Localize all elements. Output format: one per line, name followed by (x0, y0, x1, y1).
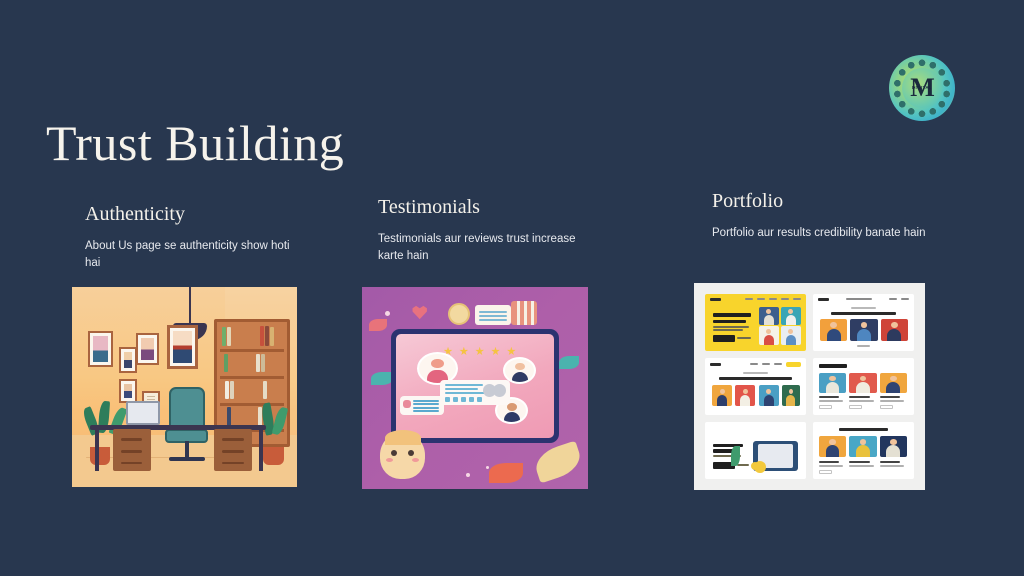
portfolio-card[interactable] (705, 294, 806, 351)
tablet-screen (396, 334, 553, 437)
chat-bubble (400, 396, 444, 415)
mock-thumbnail (881, 319, 908, 342)
mock-thumbnail (735, 385, 755, 406)
mock-thumbnail (782, 385, 800, 406)
wall-portrait-frame (136, 333, 159, 365)
mock-thumbnail (781, 326, 801, 344)
mock-navbar (710, 298, 801, 301)
office-scene (72, 287, 297, 487)
wheat-decoration (532, 441, 585, 484)
mock-thumbnail (759, 307, 779, 325)
column-heading: Portfolio (712, 189, 926, 213)
portfolio-board (694, 283, 925, 490)
mock-thumbnail (712, 385, 732, 406)
reaction-icon (493, 384, 506, 397)
mock-thumbnail (759, 385, 779, 406)
mock-navbar (710, 362, 801, 367)
column-heading: Testimonials (378, 195, 593, 219)
mascot-character (380, 432, 425, 478)
office-chair-base (169, 457, 205, 461)
star-icon (491, 347, 500, 356)
mock-thumbnail (849, 436, 876, 458)
pendant-lamp-cord (189, 287, 191, 325)
wall-portrait-frame (119, 379, 137, 403)
office-workspace-illustration (72, 287, 297, 487)
page-title: Trust Building (46, 114, 344, 172)
plant-pot (90, 447, 110, 465)
laptop (126, 401, 160, 425)
rating-dots (445, 397, 482, 402)
desk-drawer-unit (214, 429, 252, 471)
portfolio-card[interactable] (705, 422, 806, 479)
column-portfolio: Portfolio Portfolio aur results credibil… (712, 189, 926, 242)
mock-thumbnail (850, 319, 877, 342)
testimonials-tablet-illustration (362, 287, 588, 489)
mock-thumbnail (880, 373, 907, 394)
testimonials-scene (362, 287, 588, 489)
mock-thumbnail (849, 373, 876, 394)
mock-thumbnail (759, 326, 779, 344)
portfolio-card[interactable] (813, 294, 914, 351)
mock-thumbnail (781, 307, 801, 325)
wall-portrait-frame (119, 347, 137, 373)
plant-pot (263, 447, 283, 465)
desk-drawer-unit (113, 429, 151, 471)
book-decoration (511, 301, 537, 325)
desk-leg (95, 427, 99, 471)
star-icon (475, 347, 484, 356)
star-icon (507, 347, 516, 356)
mascot-hair (385, 430, 421, 446)
column-heading: Authenticity (85, 202, 300, 226)
tablet-device (391, 329, 558, 442)
wall-portrait-frame (88, 331, 113, 367)
column-testimonials: Testimonials Testimonials aur reviews tr… (378, 195, 593, 265)
mock-thumbnail (819, 436, 846, 458)
portfolio-card[interactable] (813, 358, 914, 415)
wall-portrait-frame (167, 325, 199, 369)
portfolio-card[interactable] (705, 358, 806, 415)
logo-wordmark-top: DIGITAL (889, 85, 955, 91)
slide-root: M DIGITAL Trust Building Authenticity Ab… (0, 0, 1024, 576)
column-authenticity: Authenticity About Us page se authentici… (85, 202, 300, 272)
portfolio-webpage-grid-mockup (694, 283, 925, 490)
star-icon (459, 347, 468, 356)
column-body-text: Testimonials aur reviews trust increase … (378, 231, 593, 265)
star-rating (444, 347, 516, 356)
portfolio-grid (705, 294, 914, 479)
note-card-decoration (475, 305, 511, 325)
mock-thumbnail (820, 319, 847, 342)
column-body-text: About Us page se authenticity show hoti … (85, 238, 300, 272)
badge-icon (448, 303, 470, 325)
column-body-text: Portfolio aur results credibility banate… (712, 225, 926, 242)
desk-leg (259, 427, 263, 471)
mock-navbar (818, 298, 909, 301)
brand-logo[interactable]: M DIGITAL (889, 55, 955, 121)
mock-thumbnail (880, 436, 907, 458)
portfolio-card[interactable] (813, 422, 914, 479)
review-card (440, 380, 509, 405)
heart-icon (412, 305, 428, 319)
mock-thumbnail (819, 373, 846, 394)
